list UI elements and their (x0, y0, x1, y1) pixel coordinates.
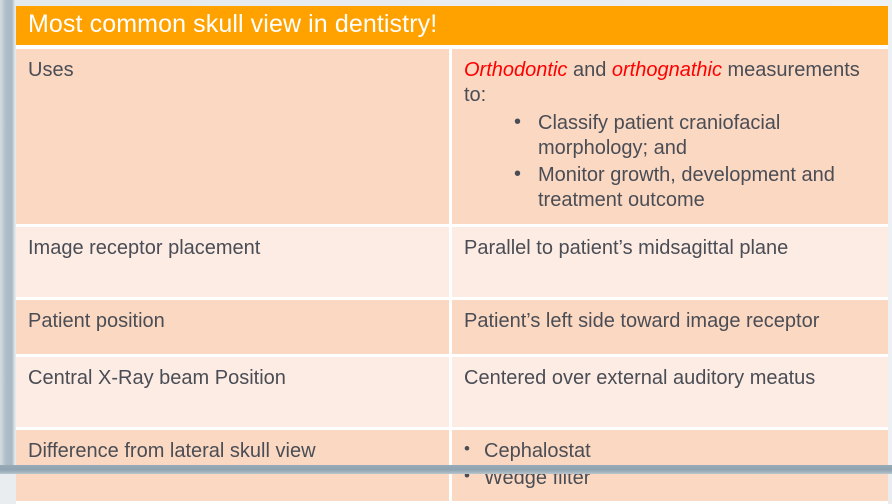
row-label-difference-from-lateral-skull-view: Difference from lateral skull view (16, 430, 452, 504)
row-label-central-xray-beam-position: Central X-Ray beam Position (16, 357, 452, 430)
emphasis-orthodontic: Orthodontic (464, 59, 567, 81)
emphasis-orthognathic: orthognathic (612, 59, 722, 81)
table-row-uses: Uses Orthodontic and orthognathic measur… (16, 49, 888, 228)
table-header-row: Most common skull view in dentistry! (16, 6, 888, 49)
spec-table-container: Most common skull view in dentistry! Use… (16, 6, 888, 465)
table-row-image-receptor-placement: Image receptor placement Parallel to pat… (16, 227, 888, 300)
row-value-patient-position: Patient’s left side toward image recepto… (452, 300, 888, 357)
list-item: Wedge filter (464, 466, 878, 492)
row-label-patient-position: Patient position (16, 300, 452, 357)
difference-bullet-list: Cephalostat Wedge filter (464, 439, 878, 491)
uses-bullet-list: Classify patient craniofacial morphology… (464, 111, 878, 214)
uses-conjunction: and (567, 59, 611, 81)
uses-intro-line: Orthodontic and orthognathic measurement… (464, 58, 878, 109)
row-label-image-receptor-placement: Image receptor placement (16, 227, 452, 300)
table-row-patient-position: Patient position Patient’s left side tow… (16, 300, 888, 357)
row-value-uses: Orthodontic and orthognathic measurement… (452, 49, 888, 228)
skull-view-spec-table: Most common skull view in dentistry! Use… (16, 6, 888, 504)
table-row-difference-from-lateral-skull-view: Difference from lateral skull view Cepha… (16, 430, 888, 504)
slide-canvas: Most common skull view in dentistry! Use… (0, 0, 892, 474)
row-value-image-receptor-placement: Parallel to patient’s midsagittal plane (452, 227, 888, 300)
row-label-uses: Uses (16, 49, 452, 228)
list-item: Monitor growth, development and treatmen… (512, 163, 878, 214)
list-item: Cephalostat (464, 439, 878, 465)
row-value-central-xray-beam-position: Centered over external auditory meatus (452, 357, 888, 430)
table-title: Most common skull view in dentistry! (16, 6, 888, 49)
row-value-difference-from-lateral-skull-view: Cephalostat Wedge filter (452, 430, 888, 504)
list-item: Classify patient craniofacial morphology… (512, 111, 878, 162)
table-row-central-xray-beam-position: Central X-Ray beam Position Centered ove… (16, 357, 888, 430)
